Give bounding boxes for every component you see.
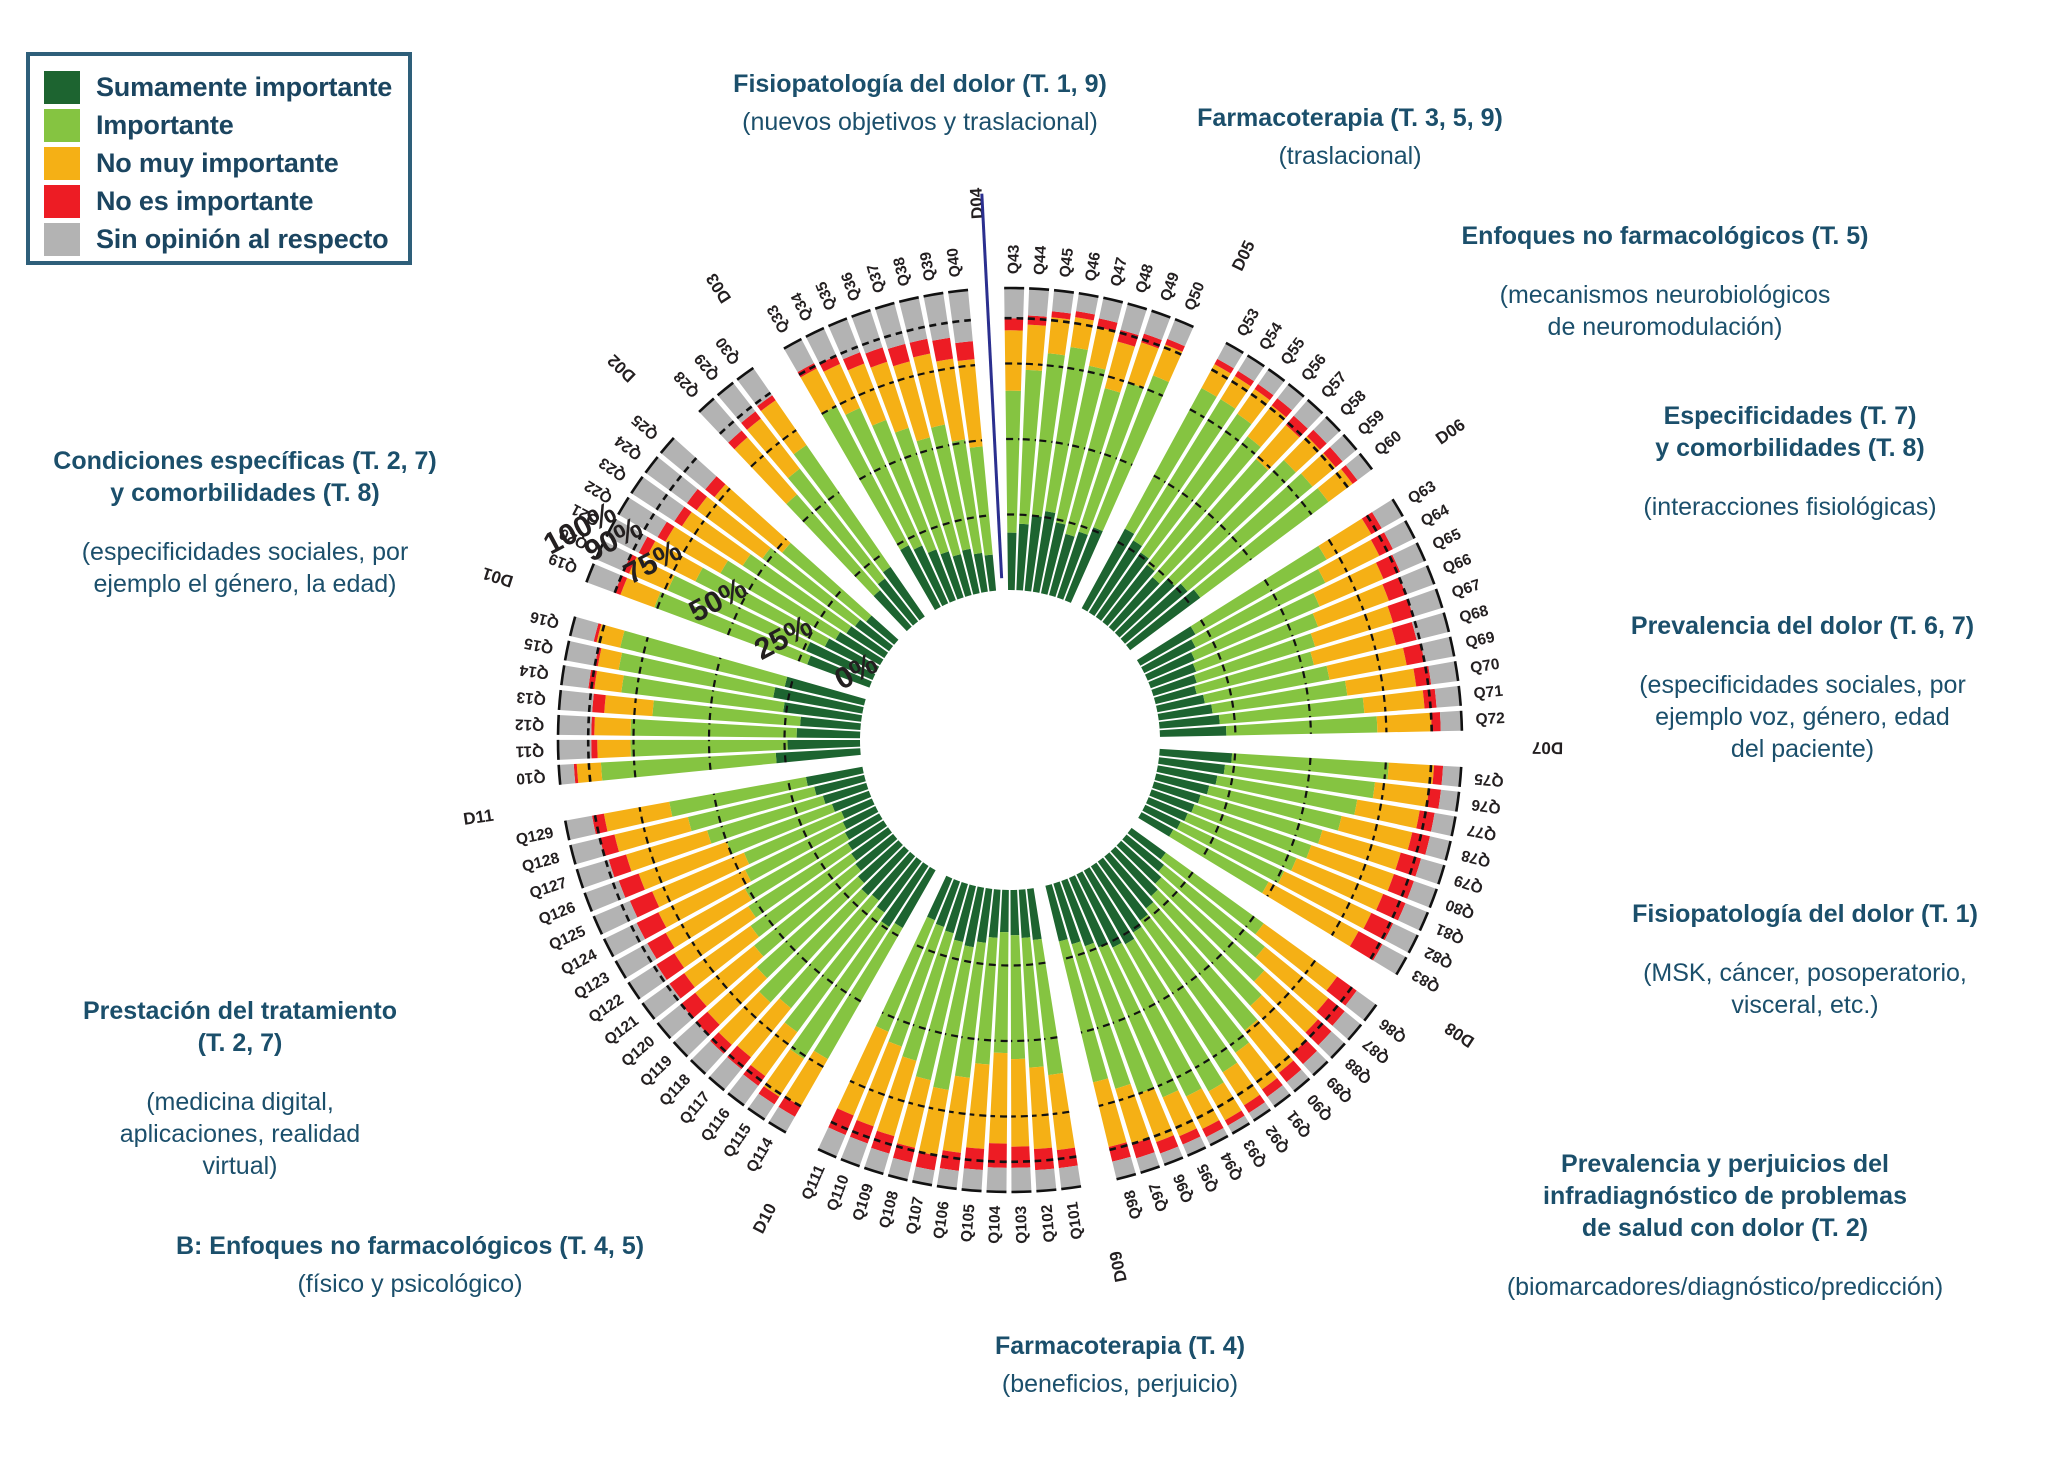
question-label: Q128 bbox=[520, 850, 561, 876]
annotation-d08: Farmacoterapia (T. 4) (beneficios, perju… bbox=[900, 1330, 1340, 1400]
question-label: Q24 bbox=[611, 432, 645, 464]
annotation-d05: Prevalencia del dolor (T. 6, 7) (especif… bbox=[1575, 590, 2030, 785]
legend-label-no-opinion: Sin opinión al respecto bbox=[96, 226, 388, 253]
question-label: Q11 bbox=[515, 742, 544, 760]
question-label: Q60 bbox=[1372, 428, 1406, 459]
legend-swatch-no-opinion bbox=[44, 223, 80, 256]
question-label: Q108 bbox=[876, 1189, 902, 1230]
question-label: Q125 bbox=[547, 923, 589, 954]
question-label: Q89 bbox=[1323, 1073, 1356, 1106]
question-label: Q35 bbox=[813, 279, 840, 313]
question-label: Q14 bbox=[518, 661, 550, 682]
question-label: Q114 bbox=[743, 1135, 777, 1176]
bar-segment bbox=[604, 695, 654, 716]
legend-swatch-important bbox=[44, 109, 80, 142]
question-label: Q30 bbox=[713, 334, 744, 368]
question-label: Q33 bbox=[764, 302, 793, 336]
legend-label-not-important: No es importante bbox=[96, 188, 313, 215]
bar-segment bbox=[1435, 686, 1461, 708]
question-label: Q28 bbox=[670, 367, 703, 400]
bar-segment bbox=[1387, 763, 1434, 784]
gridline-ring bbox=[1036, 1190, 1056, 1192]
legend-label-not-very-important: No muy importante bbox=[96, 150, 339, 177]
question-label: Q57 bbox=[1318, 369, 1350, 402]
bar-segment bbox=[1059, 1166, 1081, 1190]
bar-segment bbox=[1007, 533, 1016, 590]
question-label: Q47 bbox=[1108, 256, 1131, 288]
bar-segment bbox=[592, 694, 606, 713]
domain-label: D11 bbox=[462, 806, 495, 829]
question-label: Q29 bbox=[691, 350, 723, 384]
annotation-subtitle: (interacciones fisiológicas) bbox=[1560, 491, 2020, 523]
question-label: Q64 bbox=[1418, 501, 1452, 530]
bar-segment bbox=[1005, 330, 1023, 391]
legend-swatch-not-important bbox=[44, 185, 80, 218]
question-label: Q38 bbox=[890, 255, 913, 288]
bar-segment bbox=[776, 748, 861, 763]
legend-label-important: Importante bbox=[96, 112, 234, 139]
question-label: Q56 bbox=[1298, 351, 1330, 385]
bar-segment bbox=[1048, 1073, 1075, 1150]
bar-segment bbox=[594, 671, 623, 693]
question-label: Q109 bbox=[850, 1181, 878, 1223]
bar-segment bbox=[1011, 1167, 1031, 1192]
question-label: Q68 bbox=[1458, 602, 1491, 626]
domain-label: D01 bbox=[480, 563, 515, 591]
annotation-subtitle: (especificidades sociales, por ejemplo v… bbox=[1575, 669, 2030, 765]
domain-label: D10 bbox=[749, 1200, 780, 1236]
question-label: Q82 bbox=[1422, 943, 1456, 971]
annotation-title: Fisiopatología del dolor (T. 1, 9) bbox=[660, 68, 1180, 100]
question-label: Q58 bbox=[1337, 387, 1370, 420]
bar-segment bbox=[962, 1168, 983, 1191]
question-label: Q94 bbox=[1218, 1149, 1247, 1183]
legend-item: Sin opinión al respecto bbox=[44, 220, 394, 258]
question-label: Q103 bbox=[1013, 1205, 1031, 1244]
bar-segment bbox=[1442, 766, 1462, 787]
bar-segment bbox=[1421, 637, 1455, 662]
bar-segment bbox=[597, 740, 631, 758]
gridline-ring bbox=[559, 765, 561, 785]
legend-item: No muy importante bbox=[44, 144, 394, 182]
question-label: Q37 bbox=[864, 262, 888, 295]
bar-segment bbox=[591, 740, 597, 758]
question-label: Q129 bbox=[514, 824, 555, 848]
question-label: Q105 bbox=[958, 1203, 978, 1243]
legend-swatch-very-important bbox=[44, 71, 80, 104]
gridline-ring bbox=[559, 690, 561, 710]
annotation-title: Condiciones específicas (T. 2, 7) y como… bbox=[10, 445, 480, 509]
question-label: Q92 bbox=[1262, 1122, 1292, 1156]
question-label: Q96 bbox=[1170, 1171, 1197, 1205]
bar-segment bbox=[788, 740, 861, 750]
bar-segment bbox=[987, 1167, 1007, 1192]
question-label: Q44 bbox=[1031, 245, 1050, 276]
question-label: Q40 bbox=[944, 247, 964, 278]
question-label: Q65 bbox=[1430, 526, 1464, 554]
question-label: Q95 bbox=[1194, 1161, 1222, 1195]
question-label: Q87 bbox=[1360, 1035, 1393, 1067]
domain-label: D06 bbox=[1432, 415, 1468, 448]
legend-swatch-not-very-important bbox=[44, 147, 80, 180]
bar-segment bbox=[1433, 765, 1444, 785]
bar-segment bbox=[594, 717, 631, 736]
bar-segment bbox=[1363, 690, 1425, 713]
domain-label: D05 bbox=[1228, 238, 1259, 274]
annotation-title: Farmacoterapia (T. 3, 5, 9) bbox=[1150, 102, 1550, 134]
bar-segment bbox=[1428, 661, 1458, 684]
bar-segment bbox=[597, 624, 625, 648]
question-label: Q67 bbox=[1450, 576, 1483, 601]
question-label: Q59 bbox=[1355, 407, 1389, 439]
bar-segment bbox=[1011, 1146, 1030, 1168]
bar-segment bbox=[561, 665, 591, 688]
question-label: Q34 bbox=[788, 289, 816, 323]
question-label: Q69 bbox=[1464, 629, 1497, 652]
legend-label-very-important: Sumamente importante bbox=[96, 74, 392, 101]
bar-segment bbox=[1005, 318, 1024, 330]
bar-segment bbox=[988, 1143, 1007, 1168]
question-label: Q54 bbox=[1256, 319, 1286, 353]
question-label: Q36 bbox=[838, 269, 864, 303]
gridline-ring bbox=[558, 715, 559, 735]
bar-segment bbox=[1440, 711, 1462, 731]
question-label: Q104 bbox=[986, 1205, 1004, 1244]
annotation-title: Fisiopatología del dolor (T. 1) bbox=[1585, 898, 2025, 930]
bar-segment bbox=[1004, 288, 1024, 318]
annotation-title: Especificidades (T. 7) y comorbilidades … bbox=[1560, 400, 2020, 464]
question-label: Q93 bbox=[1240, 1136, 1270, 1170]
annotation-d06: Fisiopatología del dolor (T. 1) (MSK, cá… bbox=[1585, 878, 2025, 1041]
domain-label: D07 bbox=[1532, 738, 1563, 757]
bar-segment bbox=[1052, 290, 1074, 313]
legend-item: No es importante bbox=[44, 182, 394, 220]
question-label: Q81 bbox=[1433, 920, 1467, 947]
bar-segment bbox=[598, 648, 622, 670]
question-label: Q71 bbox=[1473, 683, 1504, 703]
question-label: Q98 bbox=[1121, 1188, 1145, 1221]
bar-segment bbox=[558, 740, 592, 760]
question-label: Q16 bbox=[528, 607, 561, 631]
question-label: Q106 bbox=[931, 1200, 953, 1240]
question-label: Q46 bbox=[1082, 250, 1104, 282]
annotation-subtitle: (medicina digital, aplicaciones, realida… bbox=[50, 1086, 430, 1182]
radial-stacked-bar-chart: Q10Q11Q12Q13Q14Q15Q16Q19Q20Q21Q22Q23Q24Q… bbox=[420, 150, 1600, 1330]
legend-item: Importante bbox=[44, 106, 394, 144]
domain-label: D03 bbox=[702, 270, 735, 307]
question-label: Q10 bbox=[516, 768, 547, 787]
annotation-d10: Prestación del tratamiento (T. 2, 7) (me… bbox=[50, 975, 430, 1202]
chart-bars bbox=[558, 288, 1462, 1192]
question-label: Q127 bbox=[528, 875, 569, 903]
bar-segment bbox=[1010, 890, 1019, 935]
legend-item: Sumamente importante bbox=[44, 68, 394, 106]
question-label: Q110 bbox=[824, 1173, 853, 1214]
bar-segment bbox=[558, 715, 592, 735]
question-label: Q102 bbox=[1039, 1204, 1059, 1243]
bar-segment bbox=[955, 341, 974, 361]
gridline-ring bbox=[1460, 767, 1462, 787]
domain-label: D02 bbox=[604, 351, 640, 386]
domain-label: D08 bbox=[1441, 1018, 1478, 1051]
question-label: Q101 bbox=[1064, 1200, 1086, 1240]
bar-segment bbox=[1029, 1066, 1052, 1149]
question-label: Q55 bbox=[1278, 334, 1309, 368]
question-label: Q63 bbox=[1405, 478, 1439, 508]
gridline-ring bbox=[962, 1189, 982, 1191]
legend: Sumamente importante Importante No muy i… bbox=[26, 52, 412, 265]
question-label: Q72 bbox=[1475, 710, 1505, 728]
question-label: Q48 bbox=[1133, 262, 1158, 295]
bar-segment bbox=[924, 293, 950, 341]
question-label: Q111 bbox=[799, 1162, 829, 1202]
bar-segment bbox=[1377, 713, 1432, 733]
question-label: Q77 bbox=[1466, 821, 1498, 843]
question-label: Q45 bbox=[1057, 247, 1077, 278]
annotation-subtitle: (beneficios, perjuicio) bbox=[900, 1368, 1340, 1400]
question-label: Q43 bbox=[1005, 244, 1022, 274]
annotation-d04: Especificidades (T. 7) y comorbilidades … bbox=[1560, 380, 2020, 543]
question-label: Q50 bbox=[1181, 280, 1208, 314]
question-label: Q88 bbox=[1342, 1054, 1375, 1087]
question-label: Q66 bbox=[1441, 551, 1475, 578]
bar-segment bbox=[1000, 890, 1009, 932]
bar-segment bbox=[1035, 1169, 1056, 1192]
question-label: Q91 bbox=[1283, 1107, 1314, 1141]
gridline-ring bbox=[1029, 288, 1049, 289]
gridline-ring bbox=[1011, 1191, 1031, 1192]
bar-segment bbox=[1028, 288, 1049, 316]
question-label: Q23 bbox=[596, 454, 630, 485]
bar-segment bbox=[601, 753, 777, 781]
bar-segment bbox=[932, 338, 953, 362]
question-label: Q49 bbox=[1157, 270, 1183, 304]
annotation-subtitle: (nuevos objetivos y traslacional) bbox=[660, 106, 1180, 138]
bar-segment bbox=[1005, 391, 1020, 533]
annotation-title: Farmacoterapia (T. 4) bbox=[900, 1330, 1340, 1362]
bar-segment bbox=[1089, 327, 1115, 369]
question-label: Q15 bbox=[522, 634, 554, 657]
bar-segment bbox=[565, 816, 595, 840]
gridline-ring bbox=[987, 1191, 1007, 1192]
bar-segment bbox=[1373, 782, 1429, 807]
bar-segment bbox=[797, 728, 861, 738]
annotation-d01: Fisiopatología del dolor (T. 1, 9) (nuev… bbox=[660, 68, 1180, 138]
question-label: Q79 bbox=[1452, 871, 1485, 896]
bar-segment bbox=[1071, 317, 1094, 350]
bar-segment bbox=[565, 641, 598, 666]
question-label: Q90 bbox=[1304, 1091, 1336, 1124]
gridline-ring bbox=[1461, 711, 1462, 731]
question-label: Q70 bbox=[1469, 656, 1501, 677]
question-label: Q97 bbox=[1146, 1181, 1171, 1214]
bar-segment bbox=[1011, 1059, 1029, 1147]
question-label: Q126 bbox=[536, 899, 578, 929]
question-label: Q78 bbox=[1459, 846, 1492, 870]
question-label: Q13 bbox=[515, 688, 546, 708]
question-label: Q12 bbox=[515, 715, 545, 733]
annotation-subtitle: (especificidades sociales, por ejemplo e… bbox=[10, 536, 480, 600]
bar-segment bbox=[989, 1053, 1008, 1144]
question-label: Q107 bbox=[903, 1195, 927, 1236]
annotation-title: Prestación del tratamiento (T. 2, 7) bbox=[50, 995, 430, 1059]
question-label: Q53 bbox=[1234, 305, 1264, 339]
question-label: Q80 bbox=[1443, 896, 1476, 922]
bar-segment bbox=[940, 1150, 961, 1171]
bar-segment bbox=[899, 297, 927, 342]
annotation-d11: Condiciones específicas (T. 2, 7) y como… bbox=[10, 425, 480, 620]
question-label: Q76 bbox=[1470, 796, 1502, 817]
chart-svg: Q10Q11Q12Q13Q14Q15Q16Q19Q20Q21Q22Q23Q24Q… bbox=[420, 150, 1600, 1330]
question-label: Q25 bbox=[628, 411, 662, 443]
annotation-title: Prevalencia del dolor (T. 6, 7) bbox=[1575, 610, 2030, 642]
question-label: Q39 bbox=[917, 250, 939, 282]
question-label: Q83 bbox=[1409, 966, 1443, 996]
bar-segment bbox=[948, 290, 973, 343]
domain-label: D09 bbox=[1106, 1249, 1131, 1283]
question-label: Q86 bbox=[1376, 1015, 1410, 1046]
question-label: Q75 bbox=[1473, 770, 1504, 789]
annotation-subtitle: (MSK, cáncer, posoperatorio, visceral, e… bbox=[1585, 957, 2025, 1021]
